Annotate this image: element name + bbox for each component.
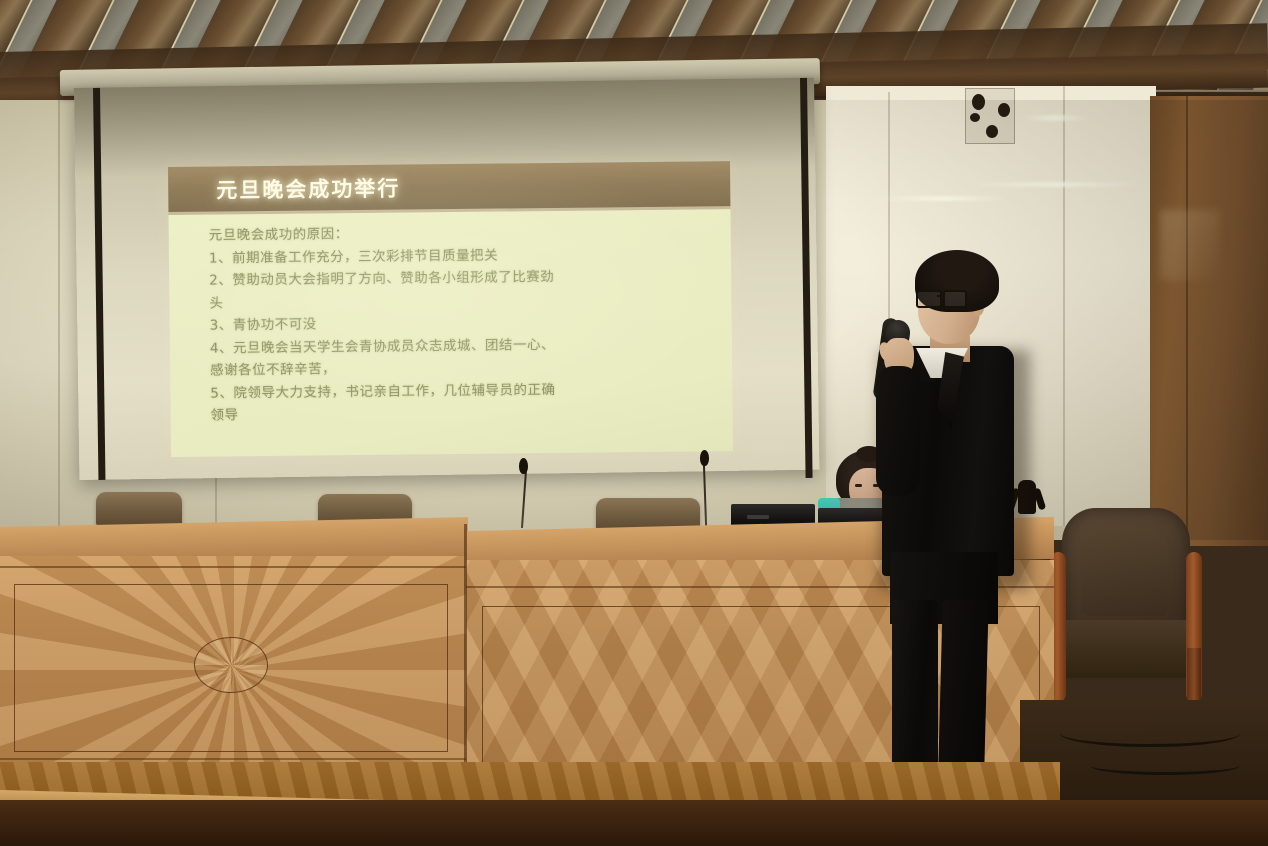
gooseneck-mic-center-head [519,458,528,474]
podium-left-line-top [0,566,468,568]
speaker-arm [876,366,920,496]
slide-body: 元旦晚会成功的原因：1、前期准备工作充分，三次彩排节目质量把关2、赞助动员大会指… [169,209,734,457]
podium-medallion [194,637,268,693]
floor-cable-2 [1090,756,1240,775]
eyeglasses-left-lens [916,290,942,308]
leather-armchair-seat [1058,620,1194,678]
operator-eye-left [855,484,862,487]
slide-title: 元旦晚会成功举行 [216,169,696,204]
chair-back-1 [96,492,182,526]
gooseneck-mic-right-head [700,450,709,466]
podium-seam [464,524,467,792]
presentation-photo-scene: 元旦晚会成功举行 元旦晚会成功的原因：1、前期准备工作充分，三次彩排节目质量把关… [0,0,1268,846]
stage-front-wall [0,800,1268,846]
slide-text-block: 元旦晚会成功的原因：1、前期准备工作充分，三次彩排节目质量把关2、赞助动员大会指… [209,219,711,427]
projected-slide: 元旦晚会成功举行 元旦晚会成功的原因：1、前期准备工作充分，三次彩排节目质量把关… [168,161,733,457]
laptop-logo [747,515,769,519]
leather-armchair-cushion [1082,528,1168,616]
floor-cable-1 [1060,720,1240,747]
eyeglasses-right-lens [943,290,967,308]
eyeglasses-bridge [937,295,944,297]
podium-left-line-bottom [0,758,468,760]
